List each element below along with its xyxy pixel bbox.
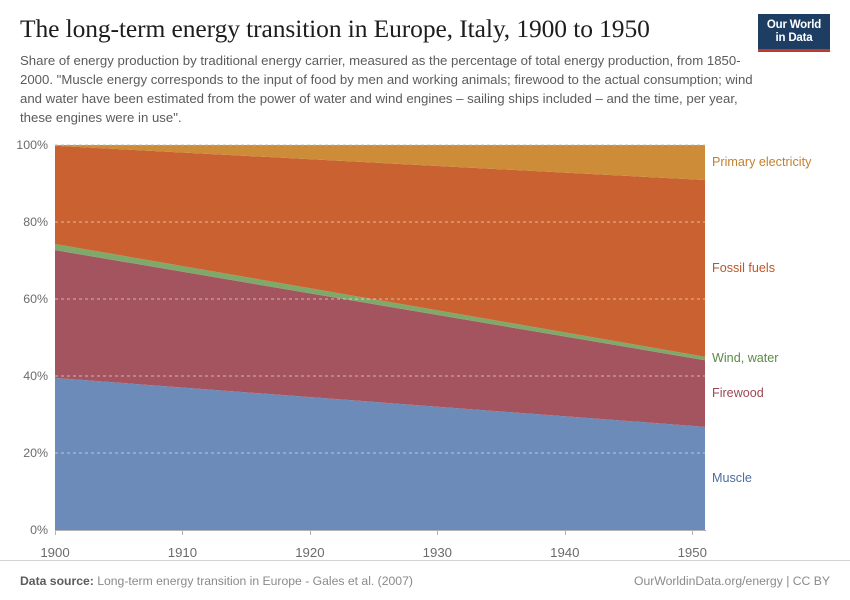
series-label-firewood[interactable]: Firewood (712, 386, 764, 400)
chart-footer: Data source: Long-term energy transition… (0, 560, 850, 600)
x-tick-mark (55, 530, 56, 535)
series-label-wind-water[interactable]: Wind, water (712, 351, 779, 365)
y-tick-label: 0% (30, 523, 48, 537)
owid-logo[interactable]: Our World in Data (758, 14, 830, 52)
x-tick-mark (182, 530, 183, 535)
x-tick-label: 1930 (423, 545, 452, 560)
y-tick-label: 40% (23, 369, 48, 383)
chart-subtitle: Share of energy production by traditiona… (20, 52, 760, 127)
stacked-area-svg (55, 145, 705, 530)
series-label-muscle[interactable]: Muscle (712, 471, 752, 485)
y-tick-label: 60% (23, 292, 48, 306)
x-tick-label: 1920 (295, 545, 324, 560)
data-source: Data source: Long-term energy transition… (20, 574, 413, 588)
x-tick-label: 1900 (40, 545, 69, 560)
series-label-fossil-fuels[interactable]: Fossil fuels (712, 261, 775, 275)
series-label-primary-electricity[interactable]: Primary electricity (712, 155, 811, 169)
x-axis-line (55, 530, 706, 531)
x-tick-mark (437, 530, 438, 535)
x-tick-label: 1910 (168, 545, 197, 560)
page-title: The long-term energy transition in Europ… (20, 14, 740, 43)
data-source-label: Data source: (20, 574, 94, 588)
owid-logo-line1: Our World (758, 19, 830, 32)
chart-area: 0%20%40%60%80%100% 190019101920193019401… (0, 138, 850, 558)
plot-region (55, 145, 705, 530)
x-tick-label: 1950 (678, 545, 707, 560)
data-source-text[interactable]: Long-term energy transition in Europe - … (97, 574, 413, 588)
attribution-link[interactable]: OurWorldinData.org/energy | CC BY (634, 574, 830, 588)
owid-logo-line2: in Data (758, 32, 830, 45)
chart-page: The long-term energy transition in Europ… (0, 0, 850, 600)
x-tick-mark (565, 530, 566, 535)
chart-header: The long-term energy transition in Europ… (0, 0, 850, 127)
y-axis-labels: 0%20%40%60%80%100% (0, 138, 48, 537)
y-tick-label: 20% (23, 446, 48, 460)
x-tick-label: 1940 (550, 545, 579, 560)
y-tick-label: 80% (23, 215, 48, 229)
y-tick-label: 100% (16, 138, 48, 152)
x-tick-mark (692, 530, 693, 535)
x-tick-mark (310, 530, 311, 535)
